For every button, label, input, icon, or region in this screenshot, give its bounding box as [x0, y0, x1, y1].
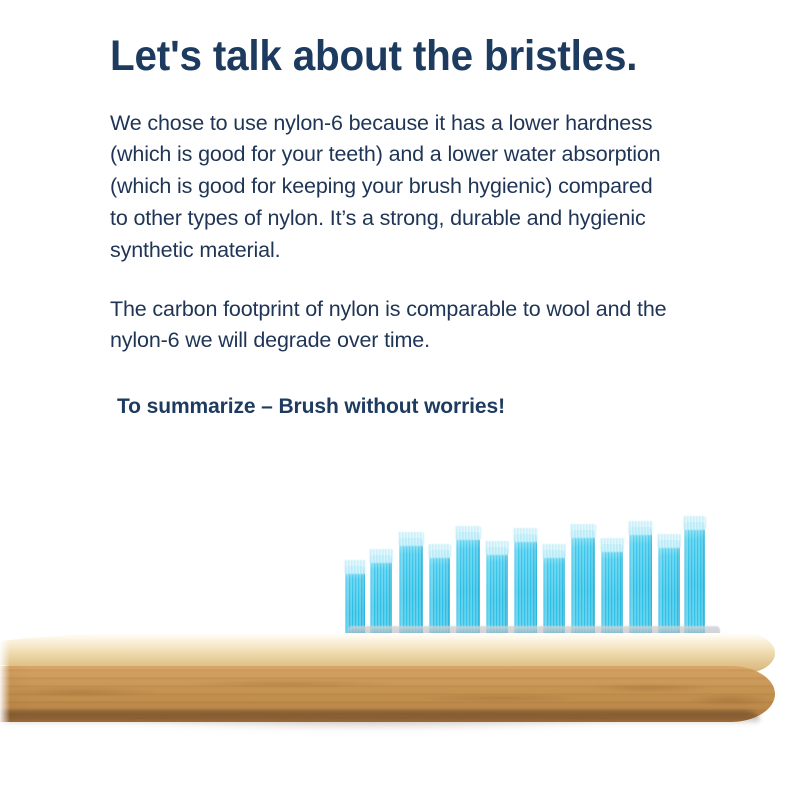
article-content: Let's talk about the bristles. We chose …	[110, 34, 730, 419]
summary-statement: To summarize – Brush without worries!	[110, 395, 730, 419]
paragraph-line: The carbon footprint of nylon is compara…	[110, 294, 730, 326]
paragraph-line: (which is good for keeping your brush hy…	[110, 171, 730, 203]
paragraph-spacer	[110, 267, 730, 294]
drop-shadow	[20, 712, 720, 734]
paragraph-line: (which is good for your teeth) and a low…	[110, 139, 730, 171]
product-info-page: Let's talk about the bristles. We chose …	[0, 0, 800, 800]
paragraph-line: We chose to use nylon-6 because it has a…	[110, 108, 730, 140]
toothbrush-photo	[0, 440, 800, 800]
paragraph-nylon-choice: We chose to use nylon-6 because it has a…	[110, 108, 730, 267]
summary-spacer	[110, 357, 730, 395]
paragraph-line: synthetic material.	[110, 235, 730, 267]
paragraph-line: nylon-6 we will degrade over time.	[110, 325, 730, 357]
paragraph-line: to other types of nylon. It’s a strong, …	[110, 203, 730, 235]
paragraph-carbon-footprint: The carbon footprint of nylon is compara…	[110, 294, 730, 358]
page-title: Let's talk about the bristles.	[110, 34, 693, 80]
